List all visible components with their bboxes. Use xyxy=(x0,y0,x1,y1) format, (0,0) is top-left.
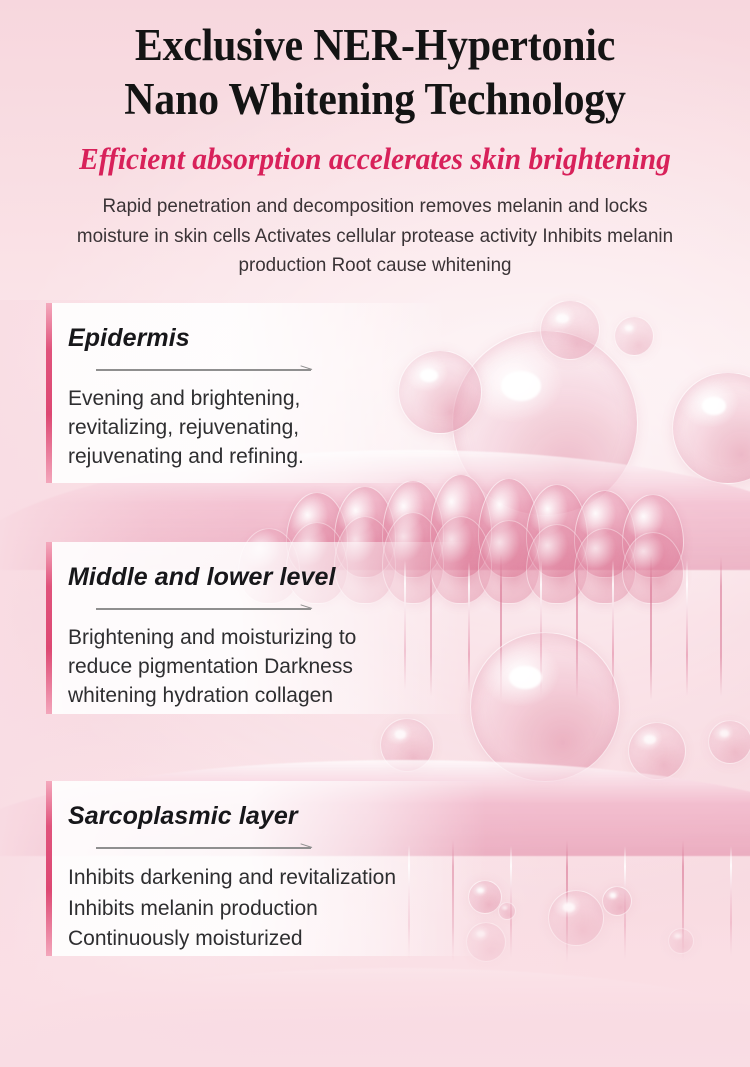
arrow-shaft xyxy=(96,608,311,609)
arrow-right-icon xyxy=(96,604,311,614)
block-body-line-3: rejuvenating and refining. xyxy=(68,443,450,472)
benefit-block-sarcoplasmic-layer: Sarcoplasmic layer Inhibits darkening an… xyxy=(46,781,486,956)
page-description-line-1: Rapid penetration and decomposition remo… xyxy=(103,195,648,217)
block-title: Middle and lower level xyxy=(68,564,470,592)
product-infographic-poster: Exclusive NER-Hypertonic Nano Whitening … xyxy=(0,0,750,1067)
block-accent-bar xyxy=(46,781,52,956)
arrow-head xyxy=(301,844,312,853)
block-body: Inhibits darkening and revitalization In… xyxy=(68,863,486,954)
page-description-line-2: moisture in skin cells Activates cellula… xyxy=(77,225,602,247)
block-body-line-2: revitalizing, rejuvenating, xyxy=(68,414,450,443)
arrow-shaft xyxy=(96,369,311,370)
benefit-block-middle-lower-level: Middle and lower level Brightening and m… xyxy=(46,542,470,714)
page-description: Rapid penetration and decomposition remo… xyxy=(66,192,684,281)
block-body-line-1: Brightening and moisturizing to xyxy=(68,624,470,653)
block-body-line-1: Evening and brightening, xyxy=(68,385,450,414)
arrow-head xyxy=(301,605,312,614)
block-body-line-3: whitening hydration collagen xyxy=(68,682,470,711)
arrow-shaft xyxy=(96,847,311,848)
benefit-blocks: Epidermis Evening and brightening, revit… xyxy=(0,303,750,956)
block-body: Brightening and moisturizing to reduce p… xyxy=(68,624,470,711)
block-accent-bar xyxy=(46,303,52,483)
block-body-line-1: Inhibits darkening and revitalization xyxy=(68,863,486,893)
page-subtitle: Efficient absorption accelerates skin br… xyxy=(19,142,732,176)
block-body-line-2: reduce pigmentation Darkness xyxy=(68,653,470,682)
benefit-block-epidermis: Epidermis Evening and brightening, revit… xyxy=(46,303,450,483)
block-body-line-3: Continuously moisturized xyxy=(68,924,486,954)
page-title-line-2: Nano Whitening Technology xyxy=(26,72,724,126)
arrow-head xyxy=(301,366,312,375)
block-accent-bar xyxy=(46,542,52,714)
block-body-line-2: Inhibits melanin production xyxy=(68,894,486,924)
arrow-right-icon xyxy=(96,843,311,853)
block-title: Sarcoplasmic layer xyxy=(68,803,486,831)
block-body: Evening and brightening, revitalizing, r… xyxy=(68,385,450,472)
arrow-right-icon xyxy=(96,365,311,375)
page-title-line-1: Exclusive NER-Hypertonic xyxy=(26,18,724,72)
block-title: Epidermis xyxy=(68,325,450,353)
header: Exclusive NER-Hypertonic Nano Whitening … xyxy=(0,0,750,281)
page-title: Exclusive NER-Hypertonic Nano Whitening … xyxy=(26,18,724,126)
